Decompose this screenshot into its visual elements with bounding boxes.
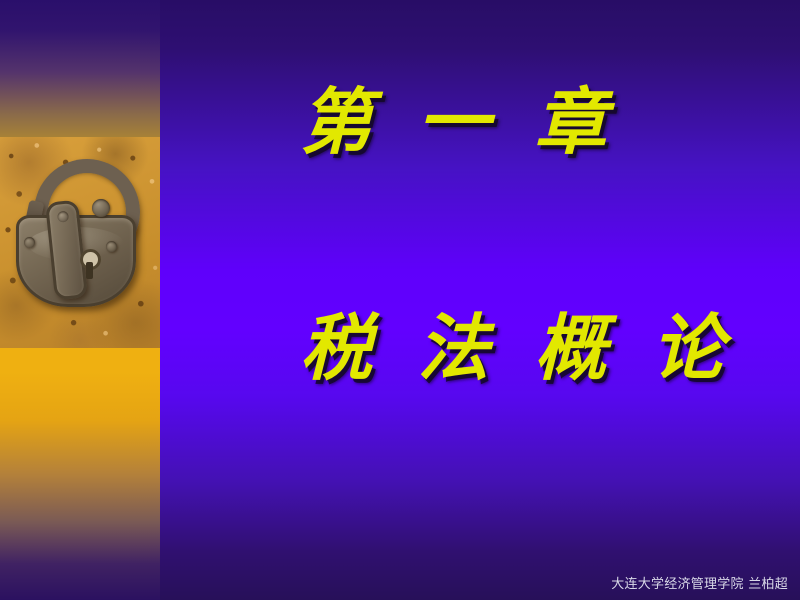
padlock-keyhole (80, 249, 101, 270)
left-decorative-column (0, 0, 160, 600)
footer-credit: 大连大学经济管理学院 兰柏超 (611, 573, 788, 592)
presentation-slide: 第 一 章 税 法 概 论 大连大学经济管理学院 兰柏超 (0, 0, 800, 600)
padlock-rivet (106, 241, 117, 252)
slide-title-chapter: 第 一 章 (300, 84, 617, 162)
padlock-rivet (24, 237, 35, 248)
padlock-open-icon (0, 137, 160, 348)
padlock-rivet (92, 199, 110, 217)
slide-title-subject: 税 法 概 论 (300, 310, 734, 388)
